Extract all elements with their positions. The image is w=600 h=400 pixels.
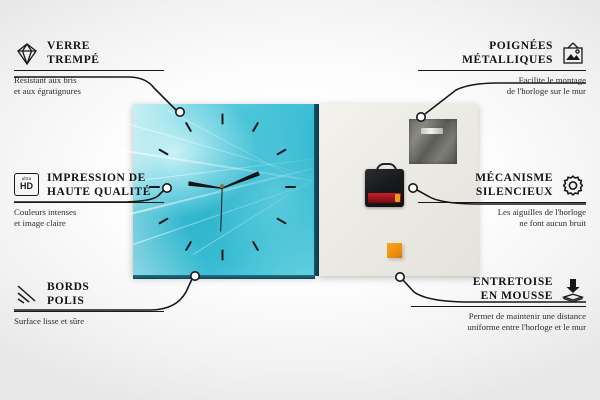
callout-subtitle-line: Surface lisse et sûre [14,316,84,326]
callout-subtitle-line: Couleurs intenses [14,207,76,217]
callout-impression-haute-qualite: ultra HD IMPRESSION DE HAUTE QUALITÉ Cou… [14,172,164,228]
clock-tick [276,148,287,155]
clock-center-hub [220,184,224,188]
callout-subtitle-line: et image claire [14,218,66,228]
callout-title-line: TREMPÉ [47,54,100,66]
movement-hanger-loop [376,163,397,174]
callout-poignees-metalliques: POIGNÉES MÉTALLIQUES Facilite le montage… [418,40,586,96]
ultra-hd-icon: ultra HD [14,173,40,199]
clock-hour-hand [188,181,222,190]
callout-mecanisme-silencieux: MÉCANISME SILENCIEUX Les aiguilles de l'… [418,172,586,228]
callout-subtitle-line: et aux égratignures [14,86,81,96]
battery [368,193,401,203]
callout-title-line: VERRE [47,40,90,52]
callout-verre-trempe: VERRE TREMPÉ Résistant aux bris et aux é… [14,40,164,96]
callout-title-line: MÉCANISME [475,172,553,184]
callout-rule [418,70,586,71]
diamond-icon [14,41,40,67]
callout-rule [14,311,164,312]
callout-subtitle-line: Les aiguilles de l'horloge [498,207,586,217]
callout-title-line: BORDS [47,281,89,293]
battery-tip [395,194,400,202]
arrow-down-pad-icon [560,277,586,303]
clock-tick [285,186,296,188]
callout-subtitle-line: uniforme entre l'horloge et le mur [467,322,586,332]
foam-spacer [387,243,402,258]
metal-bracket [409,119,457,164]
picture-frame-hanger-icon [560,41,586,67]
ultra-hd-large-text: HD [20,182,33,191]
callout-title-line: HAUTE QUALITÉ [47,186,151,198]
callout-bords-polis: BORDS POLIS Surface lisse et sûre [14,281,164,327]
callout-title-line: IMPRESSION DE [47,172,146,184]
callout-rule [14,70,164,71]
clock-tick [222,114,224,125]
callout-subtitle-line: Facilite le montage [519,75,586,85]
callout-title-line: MÉTALLIQUES [462,54,553,66]
callout-title-line: SILENCIEUX [476,186,553,198]
clock-second-hand [220,188,223,232]
clock-tick [252,241,259,252]
callout-rule [14,202,164,203]
callout-entretoise-en-mousse: ENTRETOISE EN MOUSSE Permet de maintenir… [411,276,586,332]
callout-title-line: ENTRETOISE [473,276,553,288]
infographic-canvas: VERRE TREMPÉ Résistant aux bris et aux é… [0,0,600,400]
clock-tick [276,217,287,224]
callout-rule [418,202,586,203]
clock-tick [185,241,192,252]
callout-subtitle-line: Résistant aux bris [14,75,77,85]
callout-title-line: POLIS [47,295,84,307]
clock-tick [252,122,259,133]
gear-icon [560,173,586,199]
callout-subtitle-line: Permet de maintenir une distance [469,311,586,321]
callout-rule [411,306,586,307]
callout-subtitle-line: ne font aucun bruit [519,218,586,228]
clock-movement [365,169,404,207]
clock-tick [222,250,224,261]
bracket-slot [421,128,443,134]
hatch-lines-icon [14,282,40,308]
glass-edge-bottom [133,275,315,279]
callout-title-line: EN MOUSSE [481,290,553,302]
callout-subtitle-line: de l'horloge sur le mur [507,86,586,96]
callout-title-line: POIGNÉES [489,40,553,52]
